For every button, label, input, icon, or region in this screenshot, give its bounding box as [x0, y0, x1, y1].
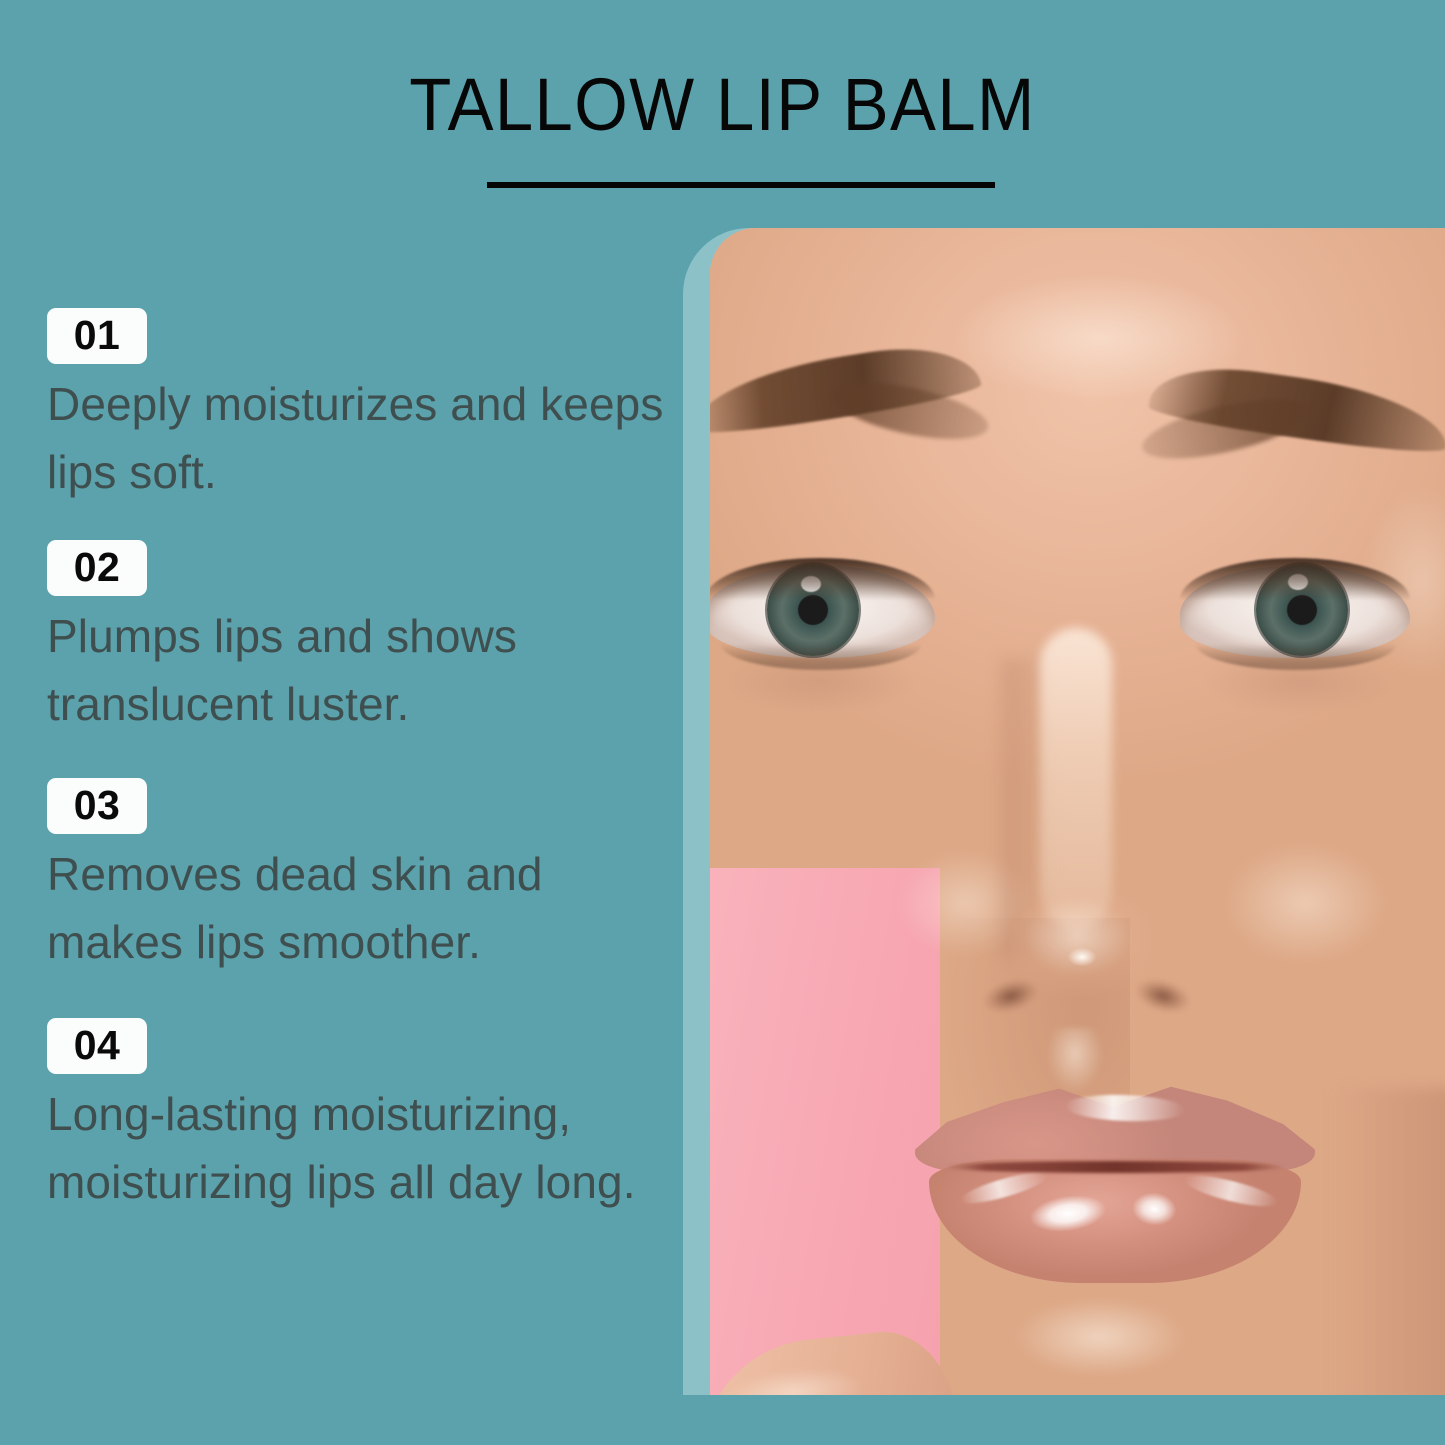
feature-number-badge-02: 02: [47, 540, 147, 596]
infographic-canvas: TALLOW LIP BALM 01 Deeply moisturizes an…: [0, 0, 1445, 1445]
feature-item-02: 02 Plumps lips and shows translucent lus…: [47, 540, 677, 738]
feature-number-badge-01: 01: [47, 308, 147, 364]
feature-text-04: Long-lasting moisturizing, moisturizing …: [47, 1080, 667, 1216]
feature-item-04: 04 Long-lasting moisturizing, moisturizi…: [47, 1018, 677, 1216]
feature-number-badge-04: 04: [47, 1018, 147, 1074]
chin-highlight: [980, 1293, 1220, 1395]
title-underline-rule: [487, 182, 995, 188]
feature-number-badge-03: 03: [47, 778, 147, 834]
right-jaw-shadow: [1330, 1088, 1445, 1395]
page-title-block: TALLOW LIP BALM: [0, 62, 1445, 148]
feature-text-01: Deeply moisturizes and keeps lips soft.: [47, 370, 667, 506]
right-undereye-shadow: [1194, 664, 1404, 734]
finger-highlight: [721, 1362, 865, 1395]
page-title: TALLOW LIP BALM: [51, 62, 1395, 148]
mouth-line: [945, 1161, 1285, 1173]
nose-bridge-highlight: [1040, 628, 1112, 928]
feature-text-02: Plumps lips and shows translucent luster…: [47, 602, 667, 738]
feature-item-03: 03 Removes dead skin and makes lips smoo…: [47, 778, 677, 976]
feature-list: 01 Deeply moisturizes and keeps lips sof…: [47, 308, 677, 1224]
nose-tip-highlight: [1062, 944, 1102, 970]
right-cheek-highlight: [1190, 818, 1420, 988]
feature-item-01: 01 Deeply moisturizes and keeps lips sof…: [47, 308, 677, 506]
model-portrait-photo: [710, 228, 1445, 1395]
left-undereye-shadow: [715, 664, 925, 734]
left-eye: [710, 558, 935, 666]
left-upper-eyelashes: [710, 558, 935, 600]
lips: [915, 1073, 1315, 1288]
right-eye: [1180, 558, 1410, 666]
upper-lip: [915, 1073, 1315, 1171]
product-photo-frame: [683, 228, 1445, 1395]
feature-text-03: Removes dead skin and makes lips smoothe…: [47, 840, 667, 976]
lower-lip: [929, 1159, 1301, 1283]
right-upper-eyelashes: [1180, 558, 1410, 600]
